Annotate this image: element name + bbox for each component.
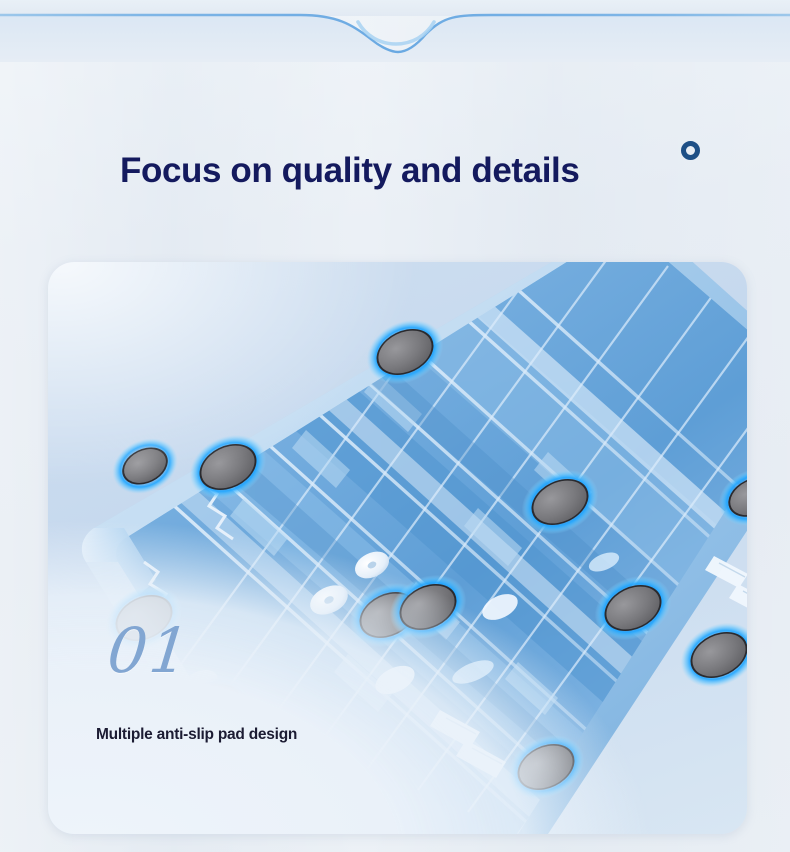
wave-dip-divider-icon [0, 0, 790, 62]
ring-dot-icon [681, 141, 700, 160]
feature-index-number: 01 [105, 620, 194, 682]
feature-card [48, 262, 747, 834]
feature-caption: Multiple anti-slip pad design [96, 726, 297, 744]
page-title: Focus on quality and details [120, 152, 579, 191]
product-detail-page: Focus on quality and details [0, 0, 790, 852]
card-corner-glow [48, 262, 747, 834]
